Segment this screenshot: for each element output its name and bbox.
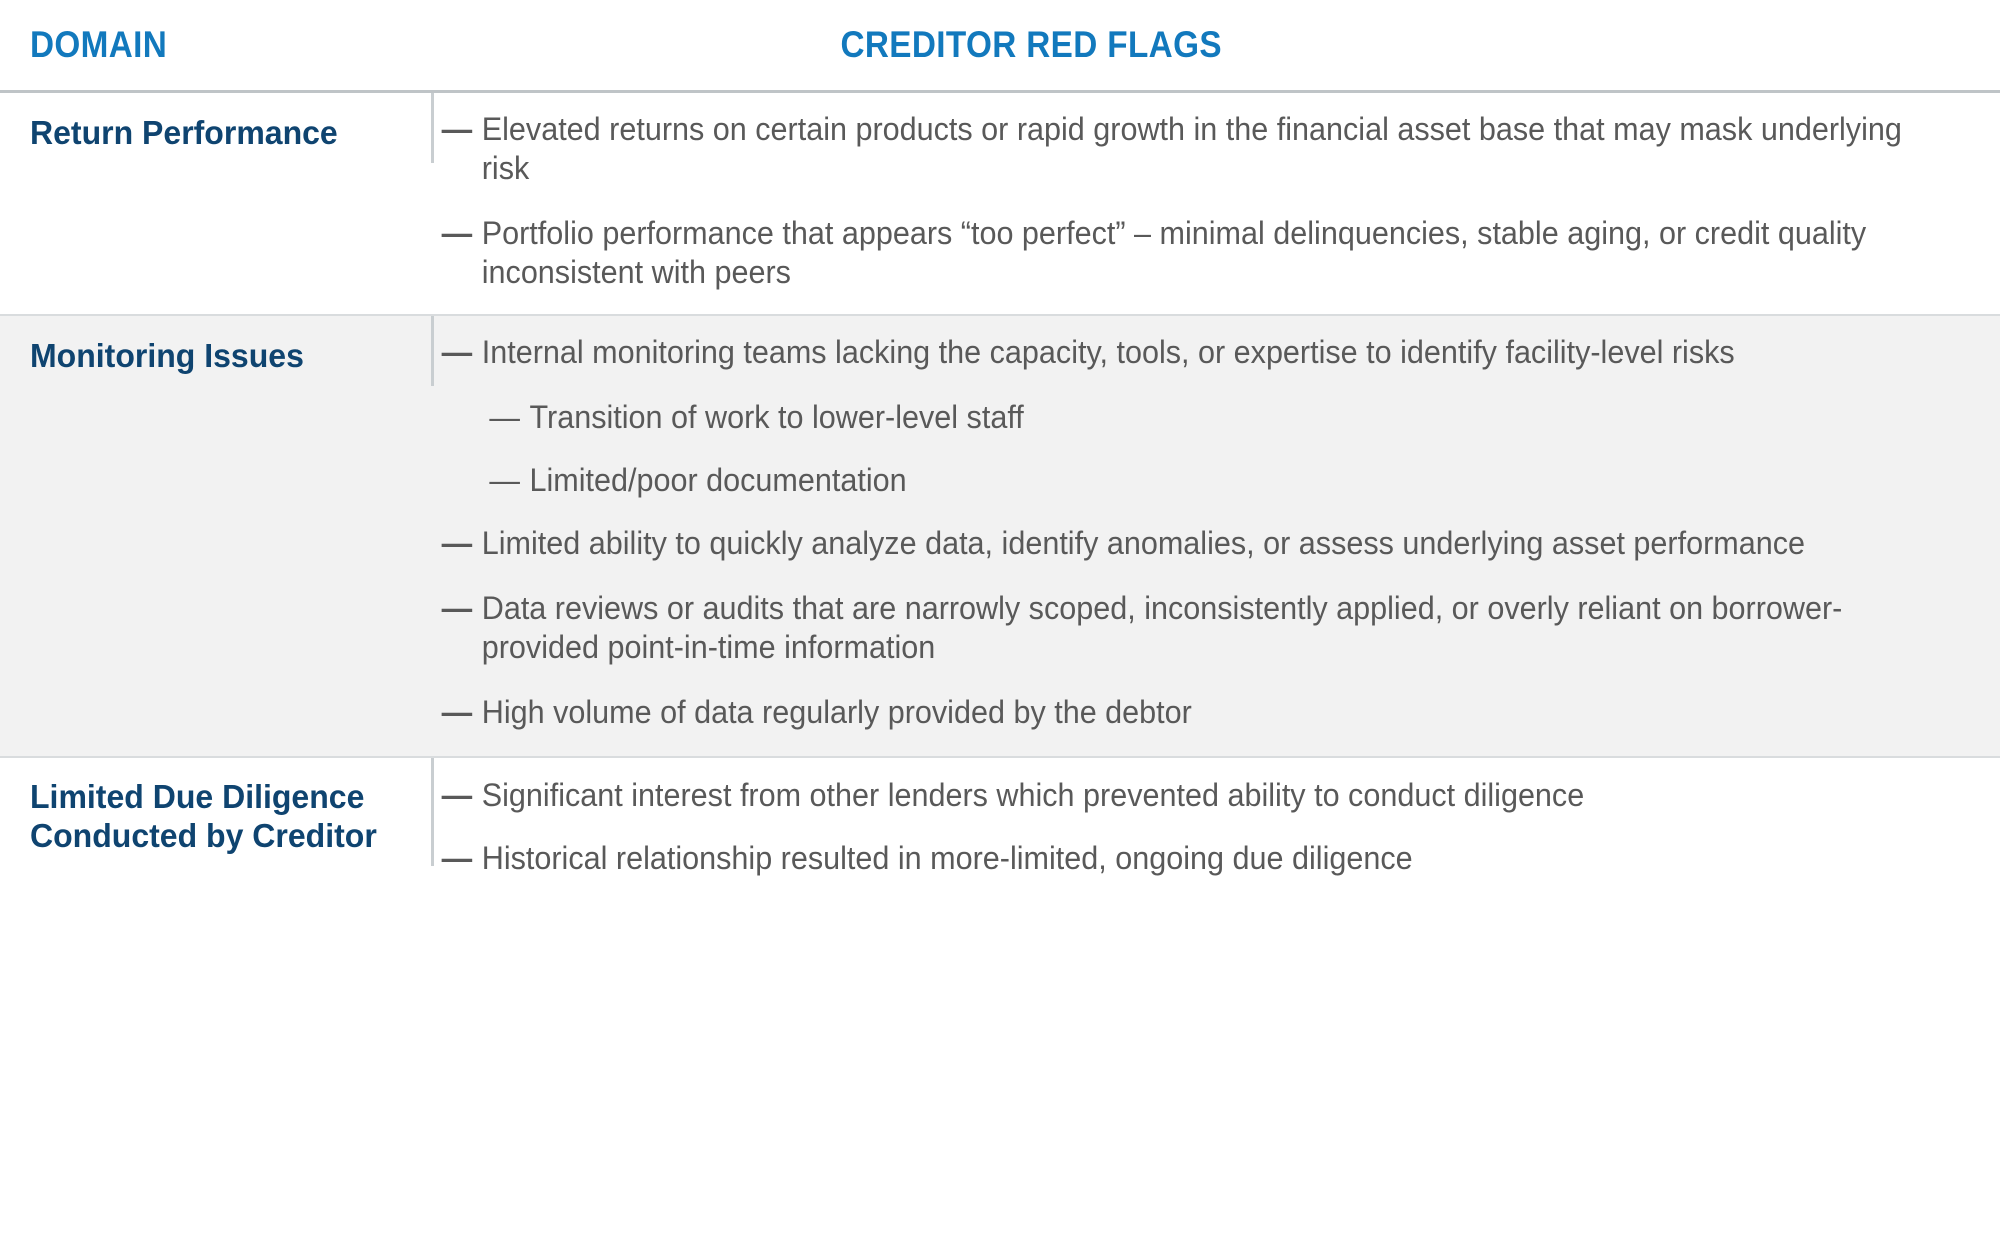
- domain-label: Monitoring Issues: [30, 337, 394, 376]
- list-item-text: Limited ability to quickly analyze data,…: [482, 525, 1805, 561]
- em-dash-bullet-icon: —: [442, 333, 473, 372]
- list-item-text: Internal monitoring teams lacking the ca…: [482, 334, 1735, 370]
- domain-label: Return Performance: [30, 114, 394, 153]
- list-item-text: Data reviews or audits that are narrowly…: [482, 590, 1843, 665]
- em-dash-bullet-icon: —: [442, 776, 473, 815]
- list-item-text: Transition of work to lower-level staff: [530, 399, 1024, 435]
- column-header-domain: DOMAIN: [30, 0, 167, 90]
- column-header-creditor-red-flags: CREDITOR RED FLAGS: [840, 0, 1221, 90]
- list-item-text: Portfolio performance that appears “too …: [482, 215, 1866, 290]
- red-flags-cell: — Significant interest from other lender…: [434, 758, 2000, 926]
- em-dash-bullet-icon: —: [442, 589, 473, 628]
- list-item: — Internal monitoring teams lacking the …: [434, 333, 1920, 372]
- table-header-row: DOMAIN CREDITOR RED FLAGS: [0, 0, 2000, 93]
- list-item: — Historical relationship resulted in mo…: [434, 839, 1920, 878]
- red-flag-list: — Significant interest from other lender…: [434, 776, 1990, 878]
- red-flag-list: — Internal monitoring teams lacking the …: [434, 333, 1990, 732]
- list-item-text: Historical relationship resulted in more…: [482, 840, 1413, 876]
- domain-label: Limited Due Diligence Conducted by Credi…: [30, 778, 394, 856]
- red-flags-cell: — Internal monitoring teams lacking the …: [434, 316, 2000, 756]
- table-row: Return Performance — Elevated returns on…: [0, 93, 2000, 314]
- list-item-text: Significant interest from other lenders …: [482, 777, 1584, 813]
- em-dash-bullet-icon: —: [442, 693, 473, 732]
- list-item: — Portfolio performance that appears “to…: [434, 214, 1920, 292]
- list-item-text: Limited/poor documentation: [530, 462, 907, 498]
- table-row: Limited Due Diligence Conducted by Credi…: [0, 756, 2000, 926]
- list-item-text: High volume of data regularly provided b…: [482, 694, 1192, 730]
- red-flag-list: — Elevated returns on certain products o…: [434, 110, 1990, 292]
- list-item: — Significant interest from other lender…: [434, 776, 1920, 815]
- creditor-red-flags-table: DOMAIN CREDITOR RED FLAGS Return Perform…: [0, 0, 2000, 1239]
- em-dash-bullet-icon: —: [442, 524, 473, 563]
- em-dash-bullet-icon: —: [442, 110, 473, 149]
- domain-cell: Return Performance: [0, 93, 434, 163]
- list-item-text: Elevated returns on certain products or …: [482, 111, 1902, 186]
- em-dash-bullet-icon: —: [489, 398, 520, 437]
- table-body: Return Performance — Elevated returns on…: [0, 93, 2000, 926]
- list-item: — Data reviews or audits that are narrow…: [434, 589, 1920, 667]
- domain-cell: Limited Due Diligence Conducted by Credi…: [0, 758, 434, 866]
- list-item: — High volume of data regularly provided…: [434, 693, 1920, 732]
- list-item: — Transition of work to lower-level staf…: [434, 398, 1920, 437]
- list-item: — Limited ability to quickly analyze dat…: [434, 524, 1920, 563]
- list-item: — Limited/poor documentation: [434, 461, 1920, 500]
- em-dash-bullet-icon: —: [489, 461, 520, 500]
- list-item: — Elevated returns on certain products o…: [434, 110, 1920, 188]
- table-row: Monitoring Issues — Internal monitoring …: [0, 314, 2000, 756]
- em-dash-bullet-icon: —: [442, 839, 473, 878]
- em-dash-bullet-icon: —: [442, 214, 473, 253]
- red-flags-cell: — Elevated returns on certain products o…: [434, 93, 2000, 314]
- domain-cell: Monitoring Issues: [0, 316, 434, 386]
